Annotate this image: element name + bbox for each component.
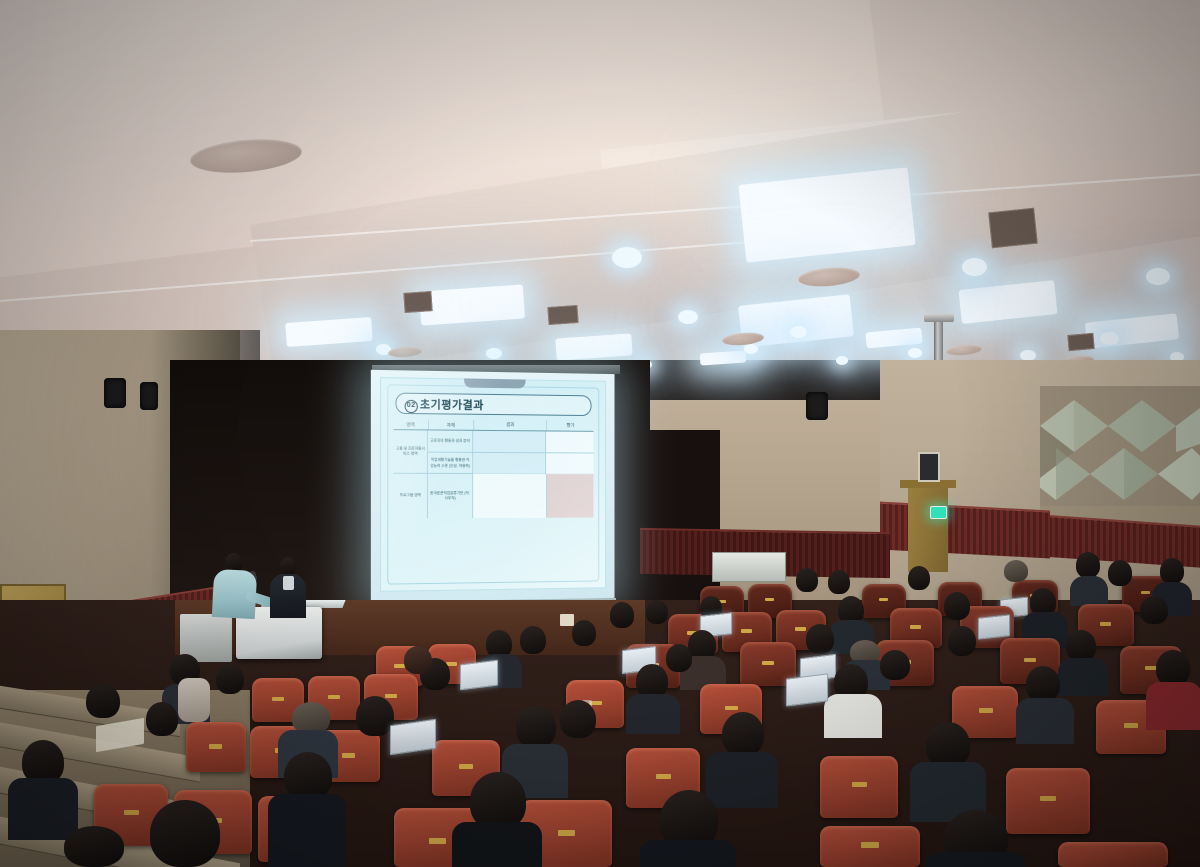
audience-head xyxy=(880,650,910,680)
wall-speaker-left-1 xyxy=(104,378,126,408)
ceiling-downlight-8 xyxy=(486,348,502,359)
cell-area-1: 고용 및 진로지원서비스 영역 xyxy=(393,430,428,473)
door-right[interactable] xyxy=(908,486,948,572)
presenter-scarf-2 xyxy=(283,576,294,590)
audience-head xyxy=(404,646,432,674)
slide-table: 영역 과제 결과 평가 고용 및 진로지원서비스 영역 근로자의 활동과 성과 … xyxy=(393,419,593,574)
audience-body xyxy=(452,822,542,867)
laptop[interactable] xyxy=(460,660,498,691)
presentation-slide: 02초기평가결과 영역 과제 결과 평가 고용 및 진로지원서비스 영역 근로자… xyxy=(380,377,606,592)
cell-task-1: 근로자의 활동과 성과 분석 xyxy=(428,430,473,451)
acoustic-diamond-panel-wall xyxy=(1040,386,1200,536)
ceiling-panel-light-9 xyxy=(700,350,747,365)
cell-rating-3 xyxy=(547,474,594,518)
wall-speaker-left-2 xyxy=(140,382,158,410)
audience-head-foreground xyxy=(64,826,124,867)
audience-head xyxy=(722,712,764,756)
ceiling-downlight-10 xyxy=(744,344,758,354)
audience-body xyxy=(1058,658,1108,696)
ceiling-grille-2 xyxy=(403,291,432,313)
audience-head xyxy=(636,664,668,698)
seat[interactable] xyxy=(186,722,246,772)
audience-head xyxy=(146,702,178,736)
cell-task-3: 한국표준직업분류기반 (직·사무직) xyxy=(428,474,473,518)
audience-head xyxy=(1076,552,1100,578)
audience-head xyxy=(520,626,546,654)
audience-body xyxy=(626,694,680,734)
ceiling-grille-3 xyxy=(547,305,578,325)
seat[interactable] xyxy=(1006,768,1090,834)
audience-head-foreground xyxy=(150,800,220,867)
paper xyxy=(560,614,574,626)
ceiling-downlight-4 xyxy=(1100,332,1119,345)
audience-head xyxy=(516,706,556,748)
seat[interactable] xyxy=(820,826,920,867)
stage-backdrop-dark-right xyxy=(600,430,720,610)
audience-body xyxy=(926,852,1026,867)
audience-head xyxy=(1140,596,1168,624)
wall-display-panel xyxy=(918,452,940,482)
audience-head xyxy=(806,624,834,654)
laptop[interactable] xyxy=(978,614,1010,639)
ceiling-downlight-1 xyxy=(612,247,642,268)
ceiling-downlight-3 xyxy=(1146,268,1170,285)
audience-head xyxy=(646,600,668,624)
audience-head xyxy=(1004,560,1028,582)
cell-result-1 xyxy=(473,431,547,452)
wainscot-right-mid xyxy=(880,502,1050,559)
audience-body xyxy=(640,840,736,867)
cell-rating-2 xyxy=(546,453,593,474)
table-header-rating: 평가 xyxy=(547,421,593,431)
audience-head xyxy=(284,752,332,800)
audience-head xyxy=(828,570,850,594)
cell-result-2 xyxy=(473,453,547,474)
audience-head xyxy=(796,568,818,592)
ceiling-downlight-13 xyxy=(836,356,848,365)
slide-number-badge: 02 xyxy=(405,400,418,413)
ceiling-downlight-2 xyxy=(962,258,987,276)
auditorium-scene: 02초기평가결과 영역 과제 결과 평가 고용 및 진로지원서비스 영역 근로자… xyxy=(0,0,1200,867)
audience-body xyxy=(706,752,778,808)
audience-head xyxy=(216,664,244,694)
seat[interactable] xyxy=(1058,842,1168,867)
exit-sign-icon xyxy=(930,506,947,519)
fur-collar xyxy=(178,678,210,722)
audience-head xyxy=(1160,558,1184,584)
seat[interactable] xyxy=(820,756,898,818)
ceiling-grille-4 xyxy=(1067,333,1094,351)
table-row: 프로그램 영역 한국표준직업분류기반 (직·사무직) xyxy=(393,474,593,519)
audience-head xyxy=(1026,666,1060,702)
audience-body xyxy=(824,694,882,738)
cell-area-3: 프로그램 영역 xyxy=(393,474,428,519)
audience-body xyxy=(1070,576,1108,606)
wall-speaker-right-1 xyxy=(806,392,828,420)
projector-ceiling-plate xyxy=(924,314,954,322)
ceiling-downlight-6 xyxy=(678,310,698,324)
table-row: 고용 및 진로지원서비스 영역 근로자의 활동과 성과 분석 직업재활기술을 활… xyxy=(393,430,593,474)
ceiling-downlight-11 xyxy=(908,348,922,358)
audience-head xyxy=(572,620,596,646)
audience-head xyxy=(944,592,970,620)
diamond-pattern-svg xyxy=(1040,386,1200,536)
audience-head xyxy=(1108,560,1132,586)
ceiling-downlight-7 xyxy=(790,326,807,338)
back-desk xyxy=(712,552,786,582)
audience-head xyxy=(908,566,930,590)
ceiling-panel-light-4 xyxy=(419,284,525,325)
cell-result-3 xyxy=(473,474,547,518)
audience-head xyxy=(560,700,596,738)
cell-rating-1 xyxy=(546,431,593,452)
audience-body xyxy=(8,778,78,840)
audience-head xyxy=(356,696,394,736)
projection-screen: 02초기평가결과 영역 과제 결과 평가 고용 및 진로지원서비스 영역 근로자… xyxy=(371,370,615,602)
table-header-result: 결과 xyxy=(474,420,548,431)
audience-head xyxy=(1156,650,1190,686)
audience-head xyxy=(610,602,634,628)
table-header-area: 영역 xyxy=(393,419,428,429)
audience-body xyxy=(1146,682,1200,730)
slide-title-pill: 02초기평가결과 xyxy=(395,393,591,417)
slide-clip-tab xyxy=(464,378,525,388)
cell-task-2: 직업재활기술을 활용한 직업능력 수준 (인성, 적응력) xyxy=(428,453,473,474)
audience-head xyxy=(666,644,692,672)
audience-body xyxy=(1016,698,1074,744)
slide-title-text: 초기평가결과 xyxy=(420,399,484,412)
audience-head xyxy=(948,626,976,656)
laptop[interactable] xyxy=(786,673,828,706)
ceiling-grille-1 xyxy=(988,208,1038,249)
audience-head xyxy=(86,684,120,718)
table-header-task: 과제 xyxy=(429,419,474,429)
slide-title: 02초기평가결과 xyxy=(405,396,484,414)
audience-body xyxy=(268,794,346,867)
